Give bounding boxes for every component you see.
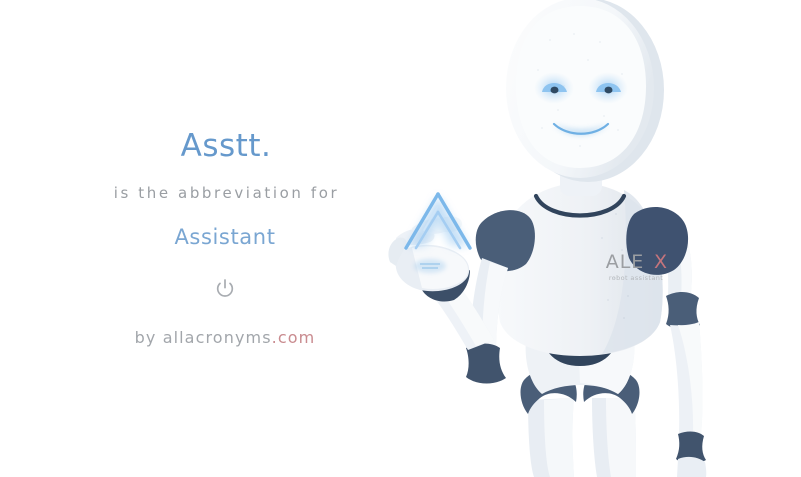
footer-credit-prefix: by: [135, 328, 163, 347]
robot-eye-right: [588, 72, 628, 104]
robot-chest-branding: ALE X robot assistant: [606, 251, 668, 282]
connector-phrase: is the abbreviation for: [111, 186, 340, 201]
robot-head: [506, 0, 664, 182]
palm-emitter-icon: [414, 259, 446, 273]
footer-site-name: allacronyms: [163, 328, 272, 347]
robot-name-accent-letter: X: [654, 251, 668, 273]
robot-tagline-label: robot assistant: [609, 274, 663, 282]
abbreviation-title: Asstt.: [179, 131, 272, 162]
robot-illustration: ALE X robot assistant: [378, 0, 801, 477]
power-icon-container: [214, 278, 236, 300]
footer-site-tld: .com: [272, 328, 316, 347]
footer-credit[interactable]: by allacronyms.com: [135, 330, 316, 346]
power-standby-icon: [214, 278, 236, 300]
robot-name-label: ALE: [606, 251, 645, 273]
abbreviation-meaning: Assistant: [174, 227, 275, 248]
page-root: Asstt. is the abbreviation for Assistant…: [0, 0, 801, 477]
robot-eye-left: [534, 72, 574, 104]
